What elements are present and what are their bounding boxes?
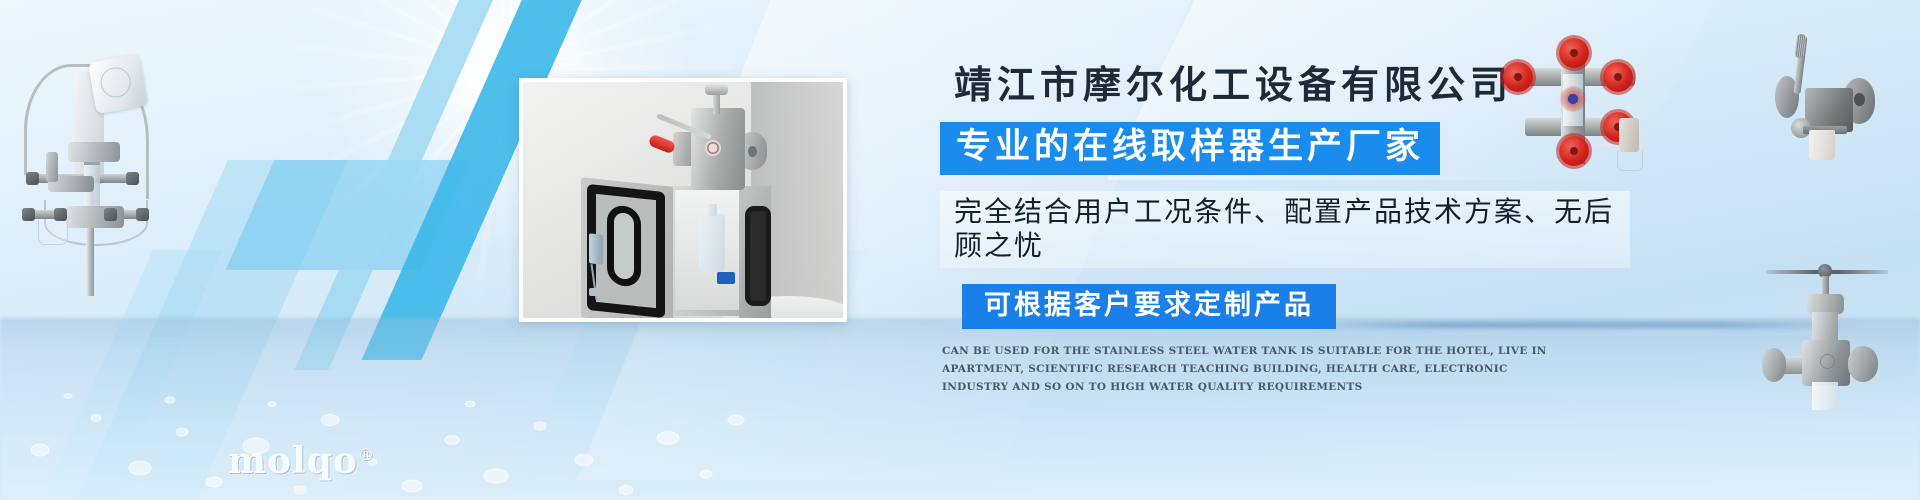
callout-highlight: 可根据客户要求定制产品 [962,284,1336,329]
promo-banner: 靖江市摩尔化工设备有限公司 专业的在线取样器生产厂家 完全结合用户工况条件、配置… [0,0,1920,500]
english-paragraph: CAN BE USED FOR THE STAINLESS STEEL WATE… [940,343,1552,397]
cross-manifold-sampler-image [1495,38,1655,168]
brand-watermark: molqo® [228,440,375,482]
headline-highlight: 专业的在线取样器生产厂家 [940,122,1440,175]
handwheel-gate-valve-image [1752,232,1920,412]
handwheel-icon [1559,136,1589,166]
handwheel-icon [1559,38,1589,68]
pipeline-sampler-assembly-image [8,24,168,294]
flanged-lever-valve-image [1765,30,1895,190]
handwheel-icon [1503,62,1533,92]
diagonal-stripe [226,160,470,270]
handwheel-icon [1603,62,1633,92]
water-droplets-icon [0,300,760,500]
registered-mark: ® [358,445,375,464]
online-sampler-cabinet-photo [519,78,847,322]
subheadline: 完全结合用户工况条件、配置产品技术方案、无后顾之忧 [940,191,1630,268]
brand-name: molqo [228,440,358,482]
